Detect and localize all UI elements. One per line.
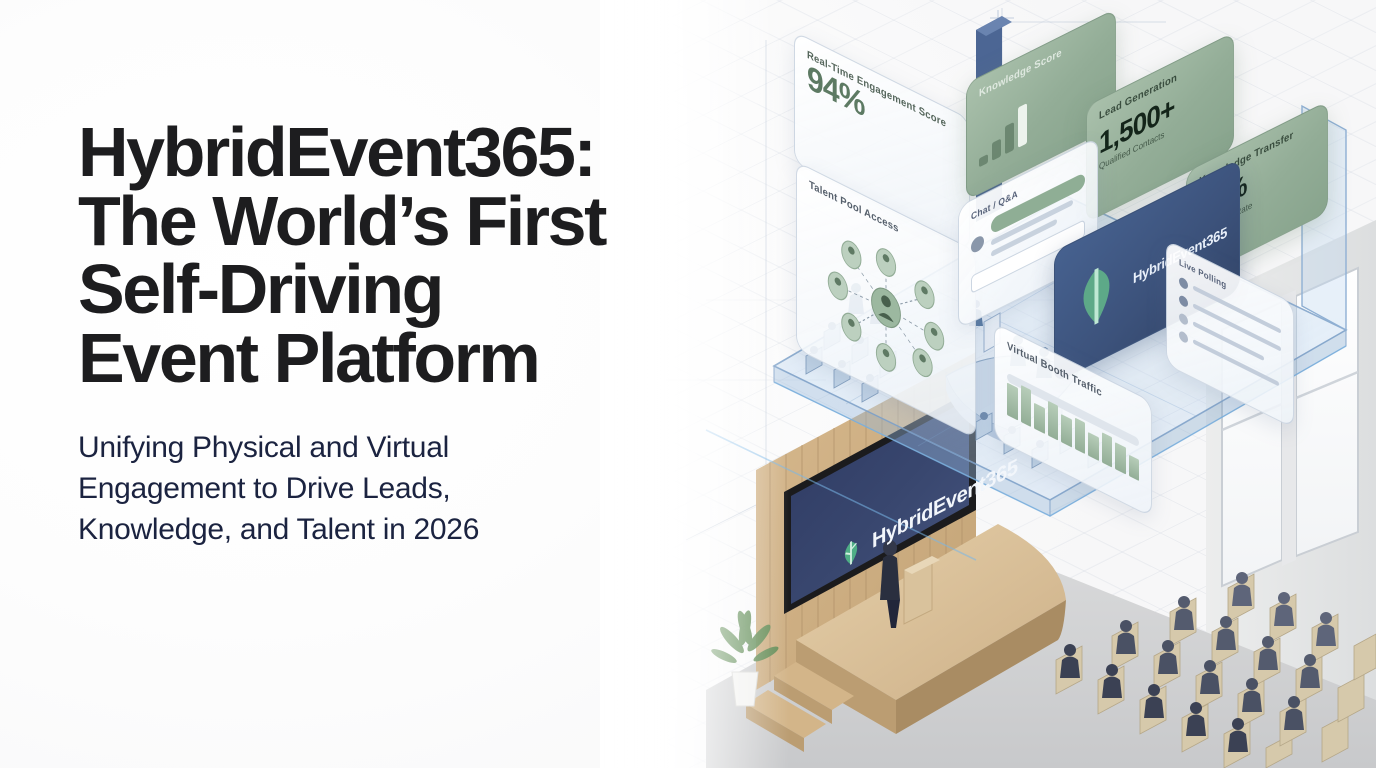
- twin-pillar: [976, 0, 1012, 222]
- hero-text-panel: HybridEvent365: The World’s First Self-D…: [78, 118, 718, 551]
- subhead-line-1: Unifying Physical and Virtual: [78, 428, 718, 469]
- hero-slide: Real-Time Engagement Score 94% Knowledge…: [0, 0, 1376, 768]
- headline-line-3: Self-Driving: [78, 255, 718, 324]
- subhead-line-3: Knowledge, and Talent in 2026: [78, 510, 718, 551]
- isometric-illustration: [646, 0, 1376, 768]
- headline-line-1: HybridEvent365:: [78, 118, 718, 187]
- headline-line-2: The World’s First: [78, 187, 718, 256]
- digital-twin-wall: [1302, 106, 1346, 330]
- page-title: HybridEvent365: The World’s First Self-D…: [78, 118, 718, 392]
- headline-line-4: Event Platform: [78, 324, 718, 393]
- subhead-line-2: Engagement to Drive Leads,: [78, 469, 718, 510]
- page-subtitle: Unifying Physical and Virtual Engagement…: [78, 428, 718, 550]
